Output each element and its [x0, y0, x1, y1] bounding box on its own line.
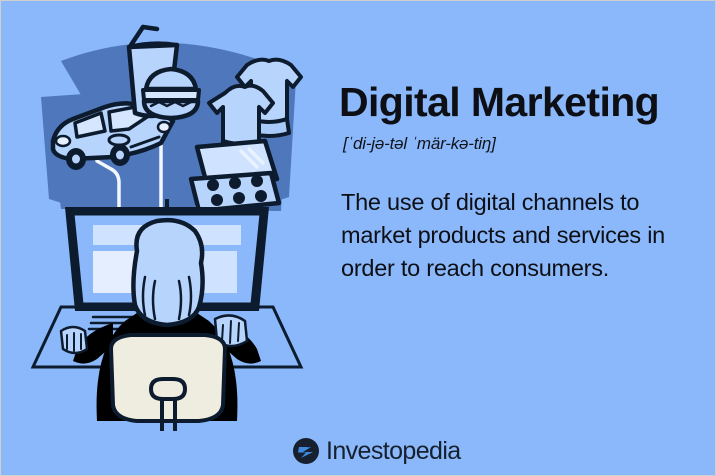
makeup-palette-icon — [191, 141, 279, 211]
brand-name: Investopedia — [326, 438, 461, 464]
definition-text: The use of digital channels to market pr… — [341, 186, 676, 285]
brand-logo: Investopedia — [293, 438, 461, 464]
text-panel: Digital Marketing [ˈdi-jə-təl ˈmär-kə-ti… — [339, 79, 699, 285]
investopedia-logo-mark-icon — [293, 438, 319, 464]
page-title: Digital Marketing — [339, 79, 699, 125]
definition-card: Digital Marketing [ˈdi-jə-təl ˈmär-kə-ti… — [0, 0, 716, 476]
hamburger-icon — [143, 69, 199, 118]
pronunciation-text: [ˈdi-jə-təl ˈmär-kə-tiŋ] — [343, 134, 699, 154]
illustration — [1, 1, 331, 431]
chair-icon — [111, 335, 225, 431]
